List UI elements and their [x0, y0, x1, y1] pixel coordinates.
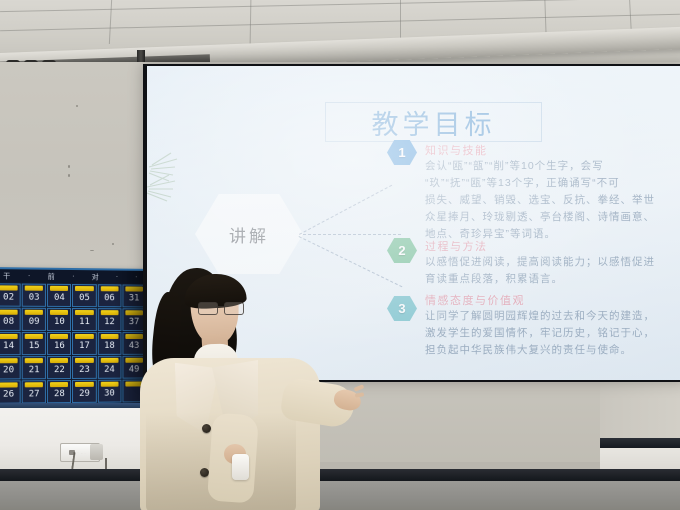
number-card-tab — [100, 310, 118, 315]
wall-mark — [90, 250, 94, 251]
number-card-tab — [75, 382, 93, 387]
header-cell: · — [72, 273, 76, 280]
number-board-cell[interactable]: 14 — [0, 332, 21, 355]
section-line: 激发学生的爱国情怀，牢记历史，铭记于心， — [425, 325, 655, 342]
number-card-tab — [75, 358, 93, 363]
connector-line-1 — [299, 185, 392, 235]
number-board-cell[interactable]: 18 — [97, 332, 121, 355]
number-board-cell-label: 10 — [54, 318, 65, 330]
number-board-cell[interactable]: 08 — [0, 308, 21, 331]
number-board-cell[interactable]: 22 — [47, 356, 71, 379]
number-card-tab — [0, 285, 18, 290]
number-board-cell-label: 16 — [54, 342, 65, 354]
coat-button — [202, 424, 211, 433]
section-body-2: 以感悟促进阅读，提高阅读能力；以感悟促进 育读重点段落，积累语言。 — [425, 254, 655, 288]
header-cell: 对 — [92, 272, 101, 282]
classroom-scene: 干 · 前 · 对 · · 02030405063108091011123714… — [0, 0, 680, 510]
number-board-cell-label: 23 — [79, 366, 90, 378]
number-board-cell[interactable]: 30 — [97, 380, 121, 403]
classroom-number-board[interactable]: 干 · 前 · 对 · · 02030405063108091011123714… — [0, 267, 149, 411]
section-line: 以感悟促进阅读，提高阅读能力；以感悟促进 — [425, 254, 655, 271]
number-board-cell-label: 11 — [79, 318, 90, 330]
number-board-cell-label: 20 — [3, 366, 14, 378]
section-badge-3: 3 — [387, 296, 417, 321]
number-board-cell-label: 06 — [104, 294, 115, 306]
number-board-cell[interactable]: 27 — [22, 380, 46, 403]
remote-clicker[interactable] — [232, 454, 249, 480]
connector-line-2 — [303, 234, 401, 235]
header-cell: · — [135, 274, 139, 281]
number-board-cell[interactable]: 17 — [72, 332, 96, 355]
wall-mark — [68, 165, 70, 168]
section-line: 损失、威望、销毁、选宝、反抗、拳经、举世 — [425, 192, 655, 209]
number-board-cell[interactable]: 11 — [72, 308, 96, 331]
wall-mark — [76, 105, 78, 107]
number-board-cell-label: 05 — [79, 294, 90, 306]
number-card-tab — [50, 286, 68, 291]
number-card-tab — [25, 310, 43, 315]
number-card-tab — [100, 358, 118, 363]
section-line: 会认“瓯”“瓿”“削”等10个生字，会写 — [425, 158, 655, 175]
number-board-cell[interactable]: 21 — [22, 356, 46, 379]
number-board-cell-label: 17 — [79, 342, 90, 354]
number-board-header: 干 · 前 · 对 · · — [0, 269, 147, 284]
number-board-cell[interactable]: 29 — [72, 380, 96, 403]
whiteboard-marker-tray — [600, 438, 680, 448]
presenter — [140, 262, 355, 510]
number-board-cell-label: 08 — [3, 318, 14, 330]
number-board-cell-label: 30 — [104, 390, 115, 402]
number-board-cell-label: 49 — [129, 366, 140, 378]
number-board-cell[interactable]: 02 — [0, 283, 21, 306]
number-card-tab — [25, 334, 43, 339]
number-card-tab — [0, 382, 18, 387]
number-card-tab — [50, 310, 68, 315]
bamboo-leaves-icon — [147, 141, 207, 211]
number-board-cell-label: 37 — [129, 318, 140, 330]
number-board-cell-label: 31 — [129, 294, 140, 306]
number-board-cell[interactable]: 06 — [97, 284, 121, 307]
number-board-cell-label: 04 — [54, 294, 65, 306]
number-board-cell-label: 26 — [3, 390, 14, 402]
center-node-label: 讲解 — [229, 222, 269, 247]
section-badge-number: 3 — [398, 301, 405, 316]
number-board-cell-label: 28 — [54, 390, 65, 402]
number-board-cell-label: 14 — [3, 342, 14, 354]
number-board-cell[interactable]: 28 — [47, 380, 71, 403]
number-board-cell-label: 18 — [104, 342, 115, 354]
header-cell: · — [116, 273, 120, 280]
number-card-tab — [25, 382, 43, 387]
section-badge-2: 2 — [387, 238, 417, 263]
number-card-tab — [0, 310, 18, 315]
section-line: 众星捧月、玲珑剔透、亭台楼阁、诗情画意、 — [425, 209, 655, 226]
slide-title-frame: 教学目标 — [325, 102, 542, 142]
header-cell: 干 — [3, 271, 12, 281]
number-board-cell-label: 02 — [3, 293, 14, 305]
number-card-tab — [75, 310, 93, 315]
number-board-cell-label: 22 — [54, 366, 65, 378]
number-board-cell[interactable]: 26 — [0, 380, 21, 403]
number-board-cell[interactable]: 24 — [97, 356, 121, 379]
number-card-tab — [50, 334, 68, 339]
number-card-tab — [100, 286, 118, 291]
number-board-cell-label: 15 — [29, 342, 40, 354]
number-board-cell-label: 43 — [129, 342, 140, 354]
section-badge-number: 2 — [398, 243, 405, 258]
number-card-tab — [0, 358, 18, 363]
number-card-tab — [100, 382, 118, 387]
number-card-tab — [25, 358, 43, 363]
section-heading-2: 过程与方法 — [425, 238, 488, 254]
number-board-cell[interactable]: 16 — [47, 332, 71, 355]
number-board-cell[interactable]: 20 — [0, 356, 21, 379]
number-board-cell-label: 27 — [29, 390, 40, 402]
number-card-tab — [25, 286, 43, 291]
number-card-tab — [50, 358, 68, 363]
number-board-cell[interactable]: 23 — [72, 356, 96, 379]
wall-mark — [68, 174, 70, 177]
header-cell: 前 — [48, 271, 57, 281]
number-card-tab — [75, 334, 93, 339]
section-badge-number: 1 — [398, 145, 405, 160]
header-cell: · — [28, 273, 32, 280]
section-body-3: 让同学了解圆明园辉煌的过去和今天的建造， 激发学生的爱国情怀，牢记历史，铭记于心… — [425, 308, 655, 359]
section-badge-1: 1 — [387, 140, 417, 165]
number-board-cell[interactable]: 10 — [47, 308, 71, 331]
number-board-cell-label: 29 — [79, 390, 90, 402]
section-heading-3: 情感态度与价值观 — [425, 292, 525, 308]
number-board-cell[interactable]: 15 — [22, 332, 46, 355]
number-card-tab — [75, 286, 93, 291]
number-board-grid[interactable]: 0203040506310809101112371415161718432021… — [0, 282, 147, 405]
number-card-tab — [0, 334, 18, 339]
section-line: 育读重点段落，积累语言。 — [425, 271, 655, 288]
eyeglasses-icon — [198, 302, 242, 313]
number-board-cell-label: 21 — [29, 366, 40, 378]
slide-title: 教学目标 — [372, 103, 496, 142]
number-board-cell-label: 09 — [29, 318, 40, 330]
number-card-tab — [50, 382, 68, 387]
number-card-tab — [100, 334, 118, 339]
number-board-cell-label: 12 — [104, 318, 115, 330]
section-body-1: 会认“瓯”“瓿”“削”等10个生字，会写 “玖”“抚”“瓯”等13个字，正确诵写… — [425, 158, 655, 243]
number-board-cell-label: 03 — [29, 294, 40, 306]
section-line: 让同学了解圆明园辉煌的过去和今天的建造， — [425, 308, 655, 325]
number-board-cell-label: 24 — [104, 366, 115, 378]
number-board-cell[interactable]: 09 — [22, 308, 46, 331]
number-board-cell[interactable]: 04 — [47, 284, 71, 307]
number-board-cell[interactable]: 03 — [22, 284, 46, 307]
wall-mark — [112, 243, 114, 245]
number-board-cell[interactable]: 12 — [97, 308, 121, 331]
section-line: 担负起中华民族伟大复兴的责任与使命。 — [425, 342, 655, 359]
number-board-cell[interactable]: 05 — [72, 284, 96, 307]
section-line: “玖”“抚”“瓯”等13个字，正确诵写“不可 — [425, 175, 655, 192]
section-heading-1: 知识与技能 — [425, 142, 488, 158]
